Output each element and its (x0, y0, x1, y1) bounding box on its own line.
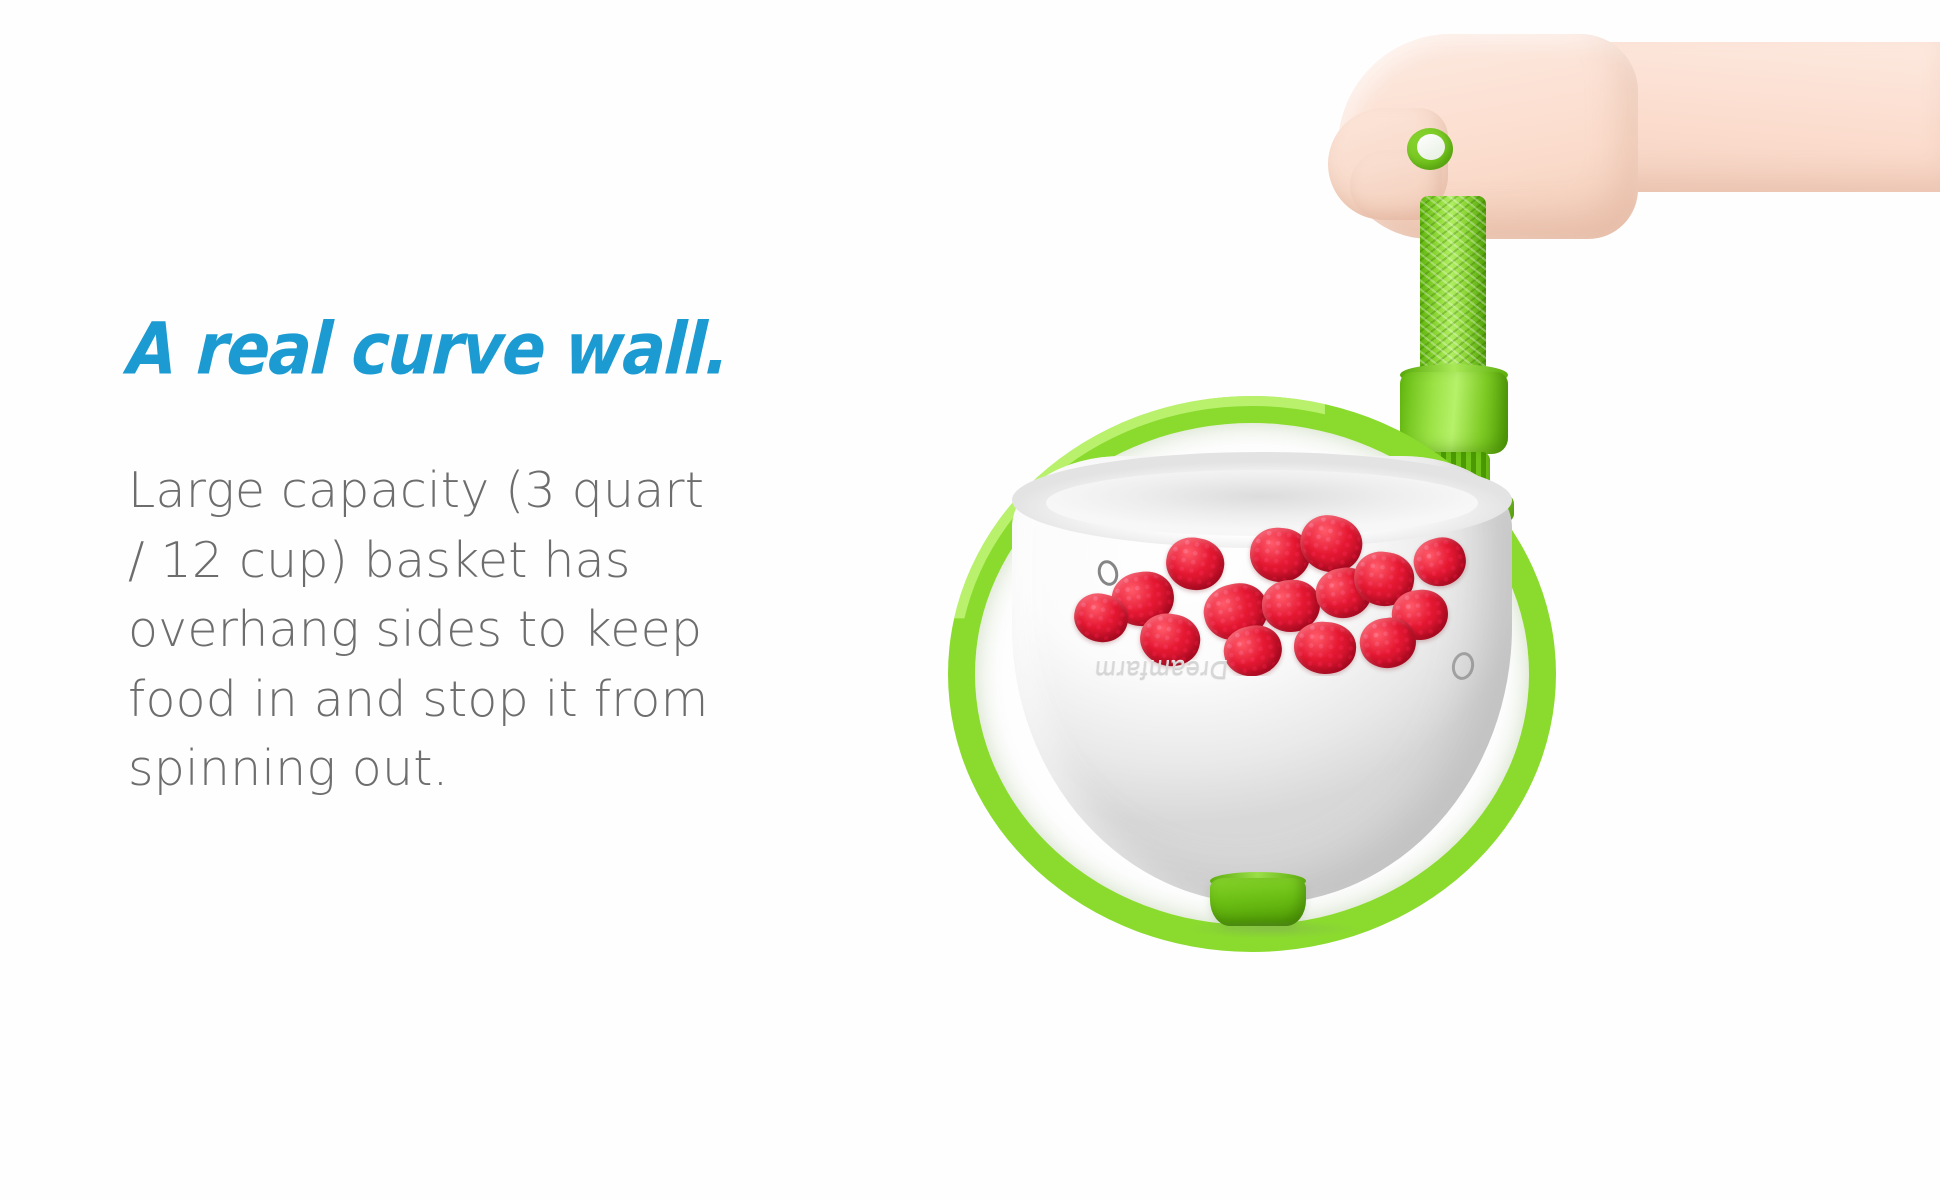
knurled-green-stem (1420, 196, 1486, 388)
raspberry (1408, 532, 1470, 592)
slide-canvas: A real curve wall. Large capacity (3 qua… (0, 0, 1940, 1200)
body-line: Large capacity (3 quart (128, 456, 888, 526)
drop-shadow (1152, 916, 1392, 942)
raspberries (1054, 498, 1470, 676)
body-line: / 12 cup) basket has (128, 526, 888, 596)
product-image: Dreamfarm (1060, 0, 1940, 1200)
raspberry (1292, 620, 1357, 676)
cap-inner (1417, 134, 1445, 160)
page-title: A real curve wall. (126, 314, 900, 386)
body-paragraph: Large capacity (3 quart / 12 cup) basket… (128, 456, 888, 804)
body-line: overhang sides to keep (128, 595, 888, 665)
brand-label: Dreamfarm (1092, 654, 1229, 683)
copy-block: A real curve wall. Large capacity (3 qua… (128, 318, 898, 804)
body-line: food in and stop it from (128, 665, 888, 735)
handle-end-cap (1407, 128, 1453, 170)
body-line: spinning out. (128, 734, 888, 804)
